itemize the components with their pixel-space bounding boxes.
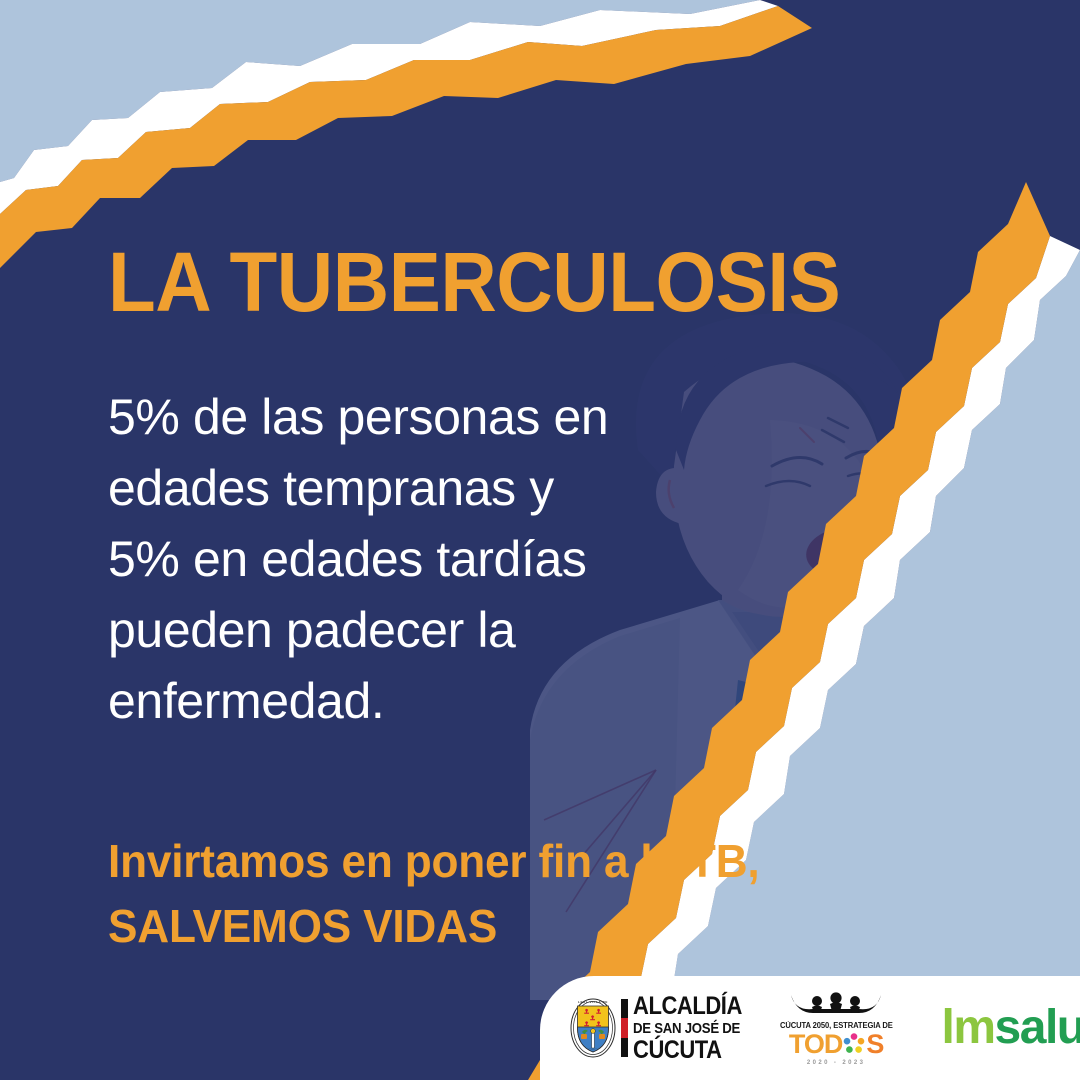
cucuta-2050-todos-logo: CÚCUTA 2050, ESTRATEGIA DE TOD S 2020 - … (777, 991, 896, 1066)
todos-word-start: TOD (789, 1031, 843, 1058)
alcaldia-line-2: DE SAN JOSÉ DE (633, 1021, 742, 1036)
alcaldia-wordmark: ALCALDÍA DE SAN JOSÉ DE CÚCUTA (633, 994, 742, 1063)
alcaldia-line-1: ALCALDÍA (633, 994, 742, 1019)
todos-word-end: S (866, 1031, 883, 1058)
svg-text:LEAL VILLA DE: LEAL VILLA DE (578, 1000, 608, 1004)
alcaldia-cucuta-logo: LEAL VILLA DE ALCALDÍA DE SAN JOSÉ DE CÚ… (570, 994, 757, 1063)
people-figures-icon (787, 991, 885, 1018)
body-line: edades tempranas y (108, 453, 768, 524)
alcaldia-line-3: CÚCUTA (633, 1038, 742, 1063)
body-line: 5% en edades tardías (108, 524, 768, 595)
todos-tagline: CÚCUTA 2050, ESTRATEGIA DE (780, 1021, 893, 1030)
todos-years: 2020 - 2023 (807, 1060, 865, 1066)
body-copy: 5% de las personas en edades tempranas y… (108, 382, 768, 737)
coat-of-arms-icon: LEAL VILLA DE (570, 998, 616, 1058)
todos-colorful-o-icon (843, 1033, 865, 1055)
cta-line: SALVEMOS VIDAS (108, 894, 759, 959)
imsalud-logo: lmsalud (942, 993, 1080, 1063)
logo-color-bars (621, 999, 628, 1057)
cta-line: Invirtamos en poner fin a la TB, (108, 829, 759, 894)
imsalud-word-dark: salud (995, 1001, 1080, 1054)
poster-canvas: LA TUBERCULOSIS 5% de las personas en ed… (0, 0, 1080, 1080)
body-line: 5% de las personas en (108, 382, 768, 453)
body-line: enfermedad. (108, 666, 768, 737)
footer-logo-bar: LEAL VILLA DE ALCALDÍA DE SAN JOSÉ DE CÚ… (540, 976, 1080, 1080)
body-line: pueden padecer la (108, 595, 768, 666)
imsalud-word-light: lm (942, 1001, 995, 1054)
page-title: LA TUBERCULOSIS (108, 243, 840, 323)
imsalud-wordmark: lmsalud (942, 1004, 1080, 1052)
call-to-action: Invirtamos en poner fin a la TB, SALVEMO… (108, 829, 759, 960)
poster-content: LA TUBERCULOSIS 5% de las personas en ed… (0, 0, 1080, 1080)
todos-wordmark: TOD S (789, 1031, 884, 1058)
